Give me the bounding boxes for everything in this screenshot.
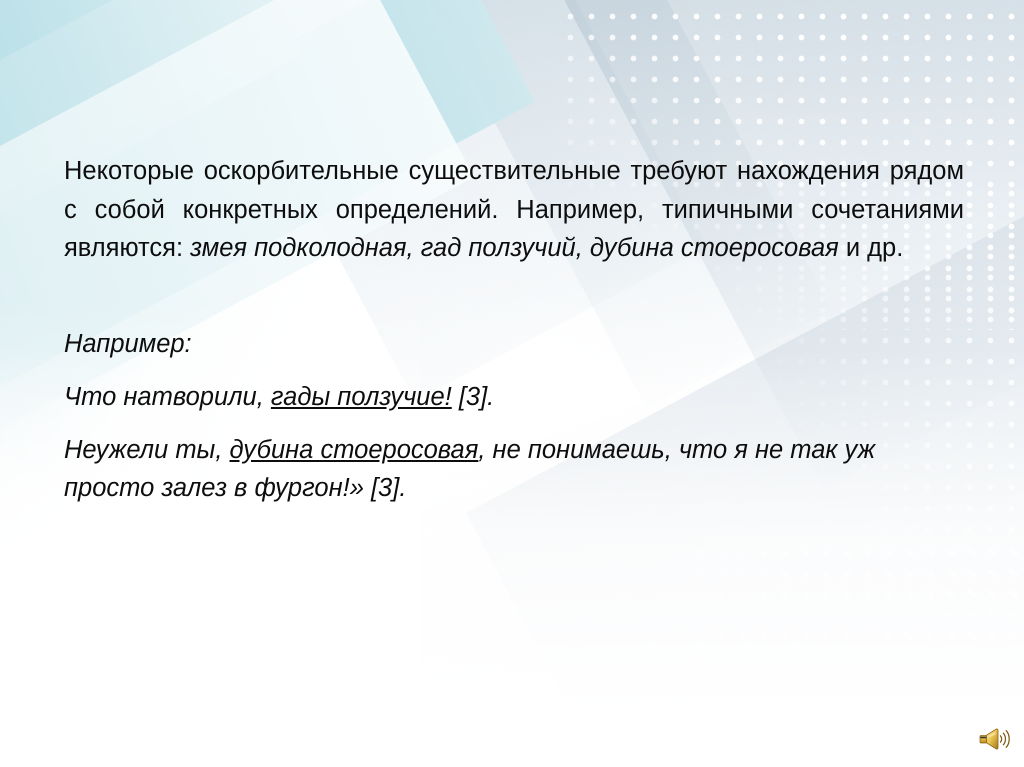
slide-content-body: Некоторые оскорбительные существительные…	[64, 152, 964, 507]
intro-paragraph: Некоторые оскорбительные существительные…	[64, 152, 964, 268]
example-quote-two: Неужели ты, дубина стоеросовая, не поним…	[64, 431, 964, 507]
presentation-slide: Некоторые оскорбительные существительные…	[0, 0, 1024, 767]
example-two-underlined-phrase: дубина стоеросовая	[230, 436, 479, 464]
intro-italic-examples: змея подколодная, гад ползучий, дубина с…	[190, 234, 839, 262]
example-one-prefix: Что натворили,	[64, 383, 271, 411]
example-quote-one: Что натворили, гады ползучие! [3].	[64, 378, 964, 416]
speaker-audio-icon[interactable]	[977, 724, 1011, 754]
example-two-prefix: Неужели ты,	[64, 436, 230, 464]
examples-block: Например: Что натворили, гады ползучие! …	[64, 325, 964, 507]
background-dot-grid-bottom	[684, 537, 1024, 767]
examples-heading: Например:	[64, 325, 964, 363]
example-one-suffix: [3].	[452, 383, 495, 411]
example-one-underlined-phrase: гады ползучие!	[271, 383, 452, 411]
examples-heading-label: Например:	[64, 330, 192, 358]
intro-text-part-two: и др.	[839, 234, 904, 262]
